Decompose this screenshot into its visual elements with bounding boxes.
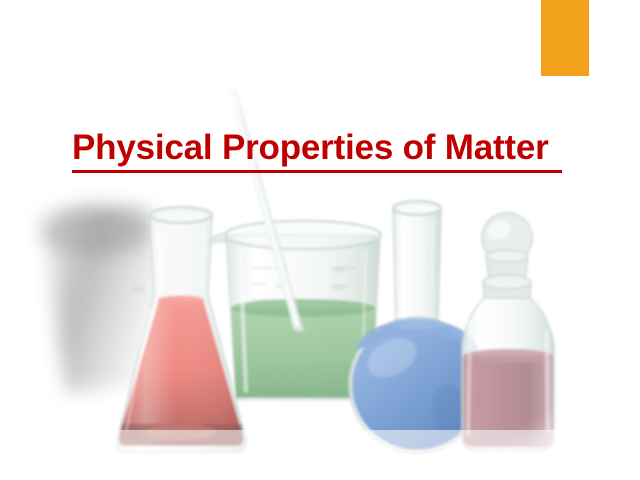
page-title: Physical Properties of Matter xyxy=(60,128,580,168)
presentation-slide: 500 400 300 200 xyxy=(0,0,640,480)
orange-accent-bar xyxy=(541,0,589,76)
title-underline xyxy=(72,170,562,173)
title-block: Physical Properties of Matter xyxy=(60,128,580,168)
